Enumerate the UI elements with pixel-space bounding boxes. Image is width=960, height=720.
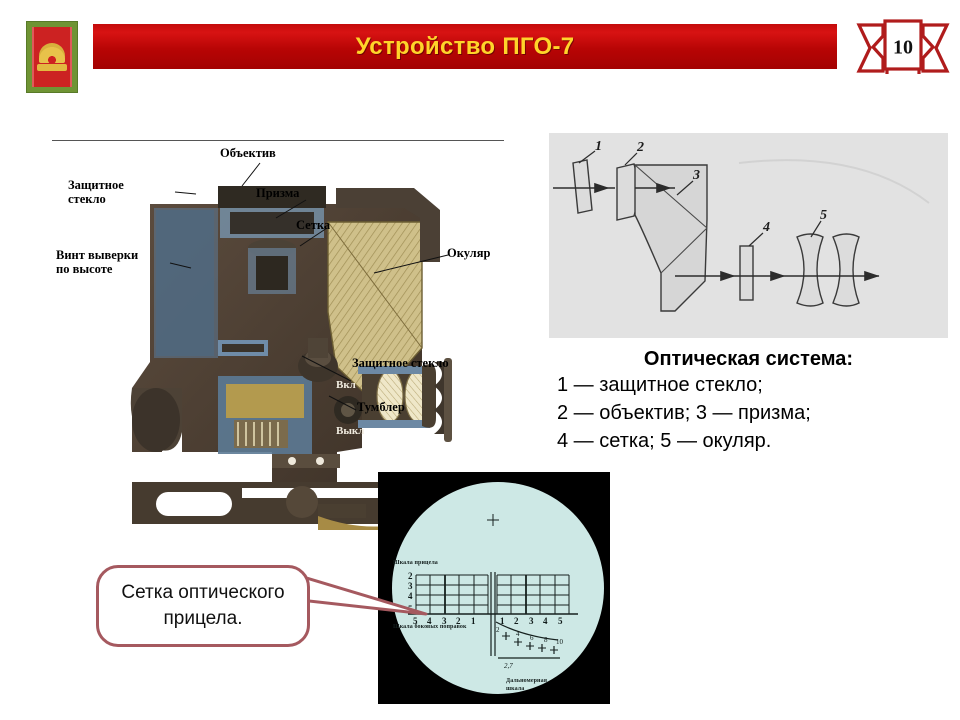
page-number: 10 — [893, 37, 913, 60]
label-zashitnoe-steklo-rear: Защитное стекло — [352, 356, 449, 370]
page-number-badge: 10 — [853, 17, 953, 79]
optical-system-diagram: 1 2 3 4 5 — [549, 133, 948, 338]
reticle-hl-1: 1 — [471, 616, 476, 626]
emblem-icon — [32, 27, 72, 87]
optic-num-5: 5 — [820, 208, 827, 223]
label-vint-vyverki: Винт выверки по высоте — [56, 248, 138, 276]
reticle-hr-1: 1 — [500, 616, 505, 626]
optical-caption-line-3: 4 — сетка; 5 — окуляр. — [549, 427, 948, 455]
callout-box: Сетка оптического прицела. — [96, 565, 310, 647]
title-banner: Устройство ПГО-7 — [93, 24, 837, 69]
optic-num-1: 1 — [595, 139, 602, 154]
reticle-range-6: 6 — [530, 634, 534, 642]
reticle-range-marking: 2,7 — [504, 662, 513, 670]
optic-num-4: 4 — [762, 220, 770, 235]
label-tumbler: Тумблер — [357, 400, 405, 414]
optic-num-2: 2 — [636, 140, 644, 155]
label-zashitnoe-steklo-front: Защитное стекло — [68, 178, 124, 206]
optical-system-caption: Оптическая система: 1 — защитное стекло;… — [549, 348, 948, 455]
callout-pointer — [300, 570, 430, 630]
optical-caption-line-1: 1 — защитное стекло; — [549, 371, 948, 399]
slide-root: Устройство ПГО-7 10 — [0, 0, 960, 720]
reticle-range-10: 10 — [556, 638, 564, 646]
optic-num-3: 3 — [692, 168, 700, 183]
label-obektiv: Объектив — [220, 146, 276, 160]
military-emblem-logo — [26, 21, 78, 93]
reticle-hr-5: 5 — [558, 616, 563, 626]
page-title: Устройство ПГО-7 — [356, 33, 575, 61]
reticle-label-sight-scale: Шкала прицела — [393, 560, 438, 566]
label-setka: Сетка — [296, 218, 330, 232]
label-okulyar: Окуляр — [447, 246, 490, 260]
reticle-hr-4: 4 — [543, 616, 548, 626]
reticle-range-8: 8 — [544, 636, 548, 644]
reticle-range-4: 4 — [516, 630, 520, 638]
reticle-range-2: 2 — [496, 626, 500, 634]
optical-ray-diagram: 1 2 3 4 5 — [549, 133, 948, 338]
optical-caption-title: Оптическая система: — [549, 348, 948, 371]
reticle-label-range-scale: Дальномерная шкала — [506, 677, 547, 693]
reticle-hr-2: 2 — [514, 616, 519, 626]
callout-text: Сетка оптического прицела. — [99, 568, 307, 644]
reticle-hr-3: 3 — [529, 616, 534, 626]
slide-header: Устройство ПГО-7 10 — [0, 0, 960, 100]
label-prizma: Призма — [256, 186, 299, 200]
optical-caption-line-2: 2 — объектив; 3 — призма; — [549, 399, 948, 427]
